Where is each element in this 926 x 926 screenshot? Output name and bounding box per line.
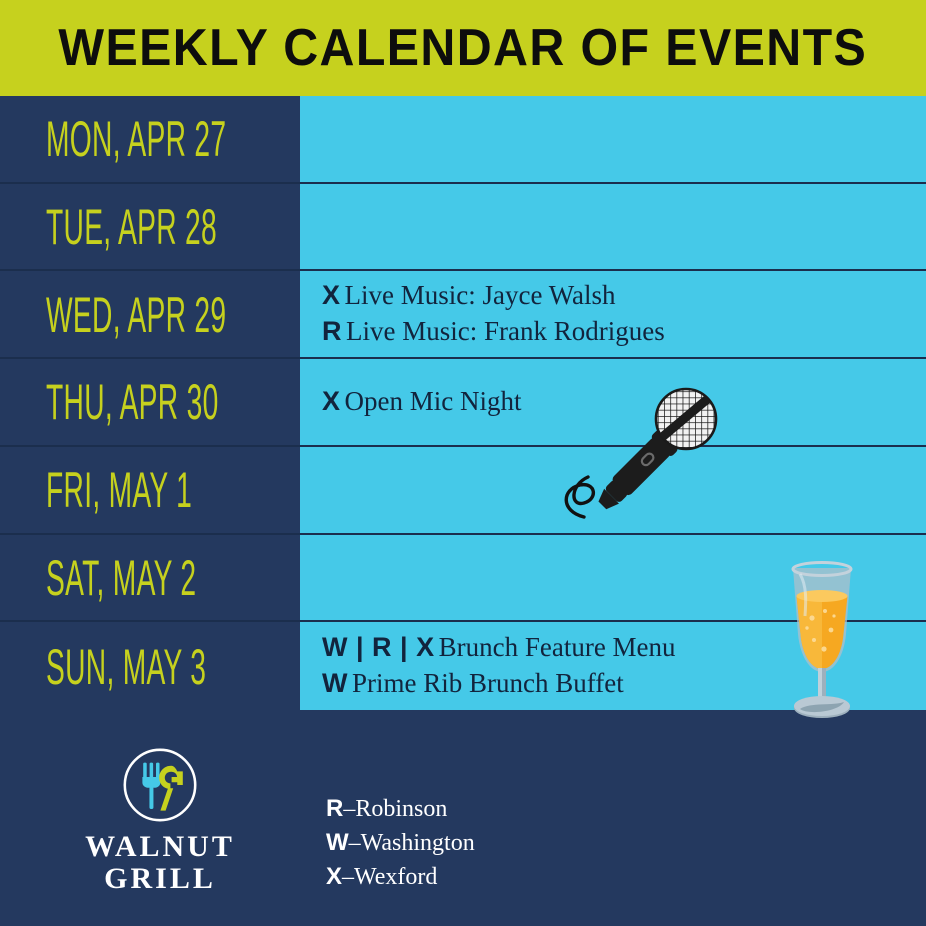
event-line: RLive Music: Frank Rodrigues: [322, 314, 926, 350]
legend-item: X–Wexford: [326, 860, 475, 894]
date-cell: TUE, APR 28: [0, 184, 300, 270]
event-cell: XLive Music: Jayce Walsh RLive Music: Fr…: [300, 271, 926, 357]
date-label: TUE, APR 28: [46, 202, 217, 252]
legend-item: W–Washington: [326, 826, 475, 860]
date-label: THU, APR 30: [46, 377, 219, 427]
legend-separator: –: [343, 796, 355, 822]
page-title: WEEKLY CALENDAR OF EVENTS: [59, 22, 868, 74]
event-cell: [300, 447, 926, 533]
date-cell: SAT, MAY 2: [0, 535, 300, 621]
event-text: Live Music: Jayce Walsh: [345, 280, 616, 310]
date-label: SUN, MAY 3: [46, 641, 206, 691]
calendar-row: MON, APR 27: [0, 96, 926, 184]
footer: WALNUT GRILL R–Robinson W–Washington X–W…: [0, 710, 926, 926]
legend-tag: R: [326, 795, 343, 822]
event-cell: XOpen Mic Night: [300, 359, 926, 445]
calendar-row: SUN, MAY 3 W | R | XBrunch Feature Menu …: [0, 622, 926, 710]
weekly-calendar-poster: WEEKLY CALENDAR OF EVENTS MON, APR 27 TU…: [0, 0, 926, 926]
event-location-tag: X: [322, 386, 341, 416]
date-cell: SUN, MAY 3: [0, 622, 300, 710]
brand-lockup: WALNUT GRILL: [60, 745, 260, 896]
date-cell: WED, APR 29: [0, 271, 300, 357]
legend-tag: W: [326, 829, 349, 856]
date-label: SAT, MAY 2: [46, 552, 196, 602]
event-line: XLive Music: Jayce Walsh: [322, 278, 926, 314]
date-cell: MON, APR 27: [0, 96, 300, 182]
brand-name-line1: WALNUT: [60, 831, 260, 863]
event-line: W | R | XBrunch Feature Menu: [322, 630, 926, 666]
event-line: XOpen Mic Night: [322, 384, 926, 420]
legend-location: Robinson: [355, 796, 447, 822]
brand-name: WALNUT GRILL: [60, 831, 260, 896]
event-line: WPrime Rib Brunch Buffet: [322, 666, 926, 702]
brand-name-line2: GRILL: [60, 863, 260, 895]
legend-item: R–Robinson: [326, 792, 475, 826]
date-cell: FRI, MAY 1: [0, 447, 300, 533]
event-cell: [300, 535, 926, 621]
event-location-tag: X: [322, 280, 341, 310]
date-cell: THU, APR 30: [0, 359, 300, 445]
event-cell: [300, 184, 926, 270]
calendar-row: TUE, APR 28: [0, 184, 926, 272]
fork-and-key-logo-icon: [120, 745, 200, 825]
date-label: WED, APR 29: [46, 289, 226, 339]
date-label: FRI, MAY 1: [46, 465, 192, 515]
legend-location: Wexford: [354, 864, 437, 890]
legend: R–Robinson W–Washington X–Wexford: [326, 792, 475, 894]
event-text: Open Mic Night: [345, 386, 522, 416]
event-location-tag: W | R | X: [322, 632, 435, 662]
calendar-row: THU, APR 30 XOpen Mic Night: [0, 359, 926, 447]
calendar-row: SAT, MAY 2: [0, 535, 926, 623]
event-text: Prime Rib Brunch Buffet: [352, 668, 624, 698]
legend-location: Washington: [361, 830, 475, 856]
event-cell: W | R | XBrunch Feature Menu WPrime Rib …: [300, 622, 926, 710]
header-band: WEEKLY CALENDAR OF EVENTS: [0, 0, 926, 96]
calendar-row: WED, APR 29 XLive Music: Jayce Walsh RLi…: [0, 271, 926, 359]
event-cell: [300, 96, 926, 182]
event-location-tag: R: [322, 316, 342, 346]
calendar-row: FRI, MAY 1: [0, 447, 926, 535]
event-text: Live Music: Frank Rodrigues: [346, 316, 665, 346]
date-label: MON, APR 27: [46, 114, 226, 164]
legend-separator: –: [349, 830, 361, 856]
legend-separator: –: [342, 864, 354, 890]
event-text: Brunch Feature Menu: [439, 632, 676, 662]
legend-tag: X: [326, 863, 342, 890]
calendar-grid: MON, APR 27 TUE, APR 28 WED, APR 29 XLiv…: [0, 96, 926, 710]
event-location-tag: W: [322, 668, 348, 698]
